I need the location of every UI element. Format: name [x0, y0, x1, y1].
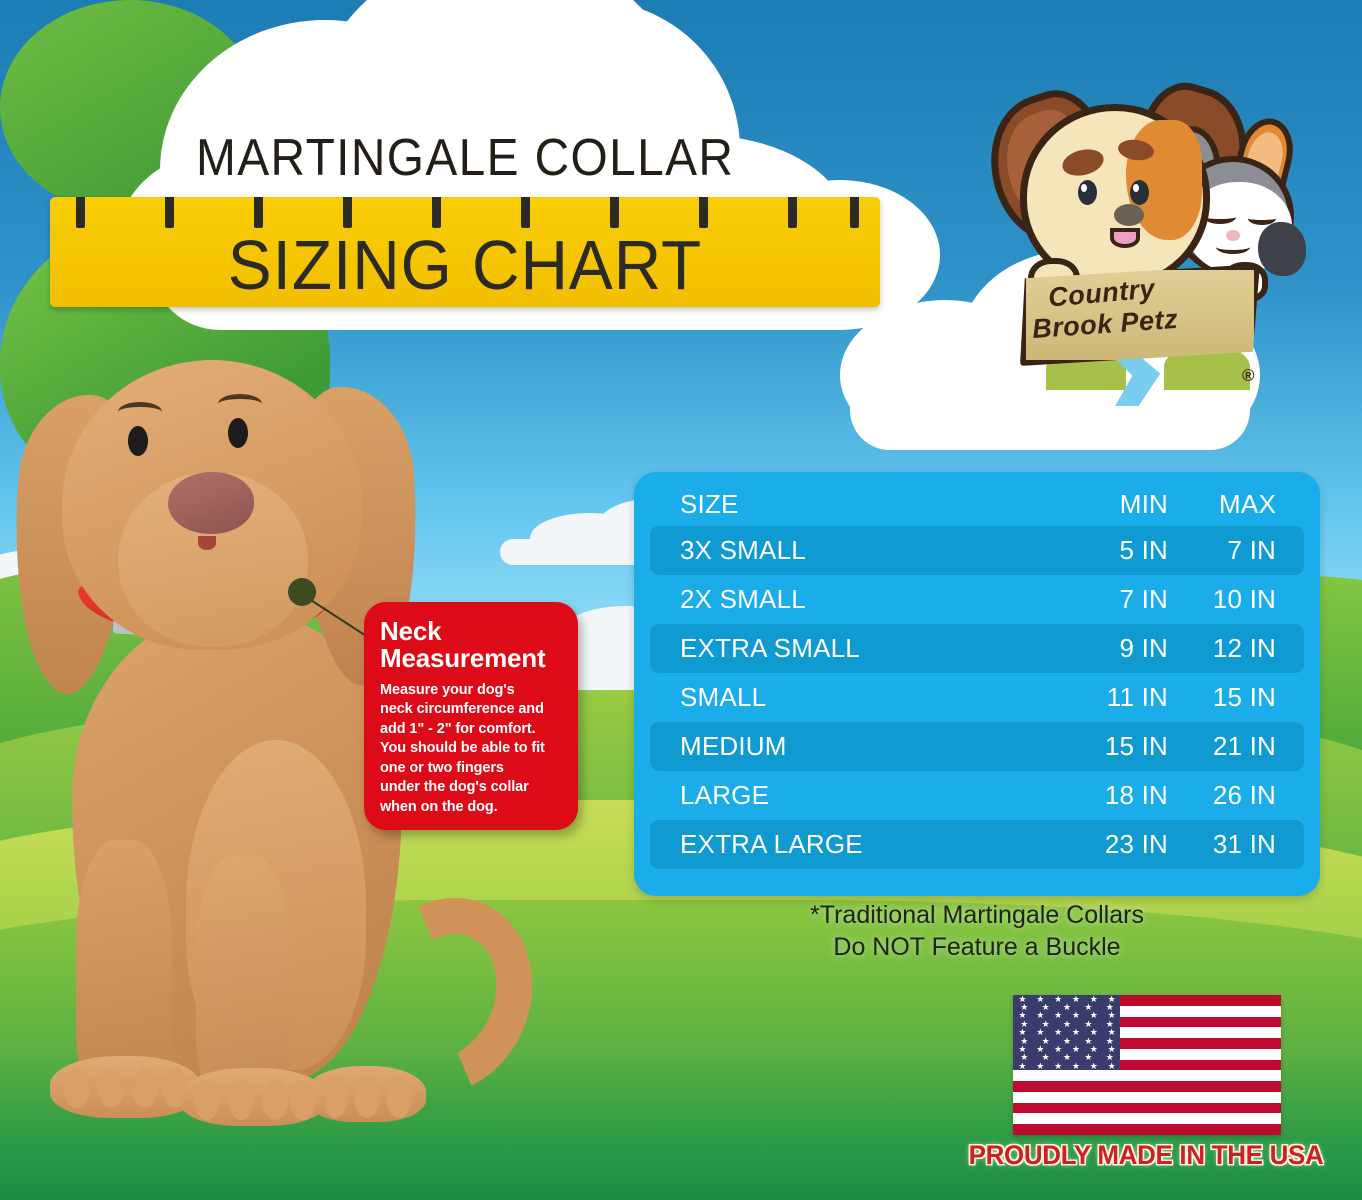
col-header-min: MIN [1044, 489, 1176, 520]
cell-max: 31 IN [1176, 829, 1304, 860]
table-row: LARGE 18 IN 26 IN [650, 771, 1304, 820]
flag-canton: ★★★★★★★★★★★★★★★★★★★★★★★★★★★★★★★★★★★★★★★★… [1013, 995, 1120, 1070]
cell-size: 3X SMALL [650, 535, 1044, 566]
flag-star: ★ [1072, 996, 1079, 1003]
flag-star: ★ [1108, 1063, 1115, 1070]
cell-size: MEDIUM [650, 731, 1044, 762]
neck-measurement-callout: Neck Measurement Measure your dog's neck… [364, 602, 578, 830]
cell-min: 9 IN [1044, 633, 1176, 664]
col-header-max: MAX [1176, 489, 1304, 520]
flag-star: ★ [1054, 1063, 1061, 1070]
table-row: MEDIUM 15 IN 21 IN [650, 722, 1304, 771]
flag-star: ★ [1072, 1046, 1079, 1053]
cell-size: EXTRA LARGE [650, 829, 1044, 860]
flag-star: ★ [1054, 1012, 1061, 1019]
flag-star: ★ [1063, 1004, 1070, 1011]
made-in-usa-label: PROUDLY MADE IN THE USA [954, 1140, 1338, 1171]
cell-size: 2X SMALL [650, 584, 1044, 615]
brand-logo: Country Brook Petz ® [986, 72, 1286, 402]
registered-mark: ® [1242, 366, 1255, 386]
cell-min: 11 IN [1044, 682, 1176, 713]
cell-max: 10 IN [1176, 584, 1304, 615]
cell-min: 5 IN [1044, 535, 1176, 566]
cell-min: 23 IN [1044, 829, 1176, 860]
ruler-banner: SIZING CHART [50, 197, 880, 307]
callout-pointer-dot [288, 578, 316, 606]
cell-size: SMALL [650, 682, 1044, 713]
flag-star: ★ [1063, 1038, 1070, 1045]
flag-star: ★ [1054, 1046, 1061, 1053]
sizing-table: SIZE MIN MAX 3X SMALL 5 IN 7 IN 2X SMALL… [634, 472, 1320, 896]
cell-max: 21 IN [1176, 731, 1304, 762]
sizing-chart-infographic: MARTINGALE COLLAR SIZING CHART [0, 0, 1362, 1200]
flag-star: ★ [1072, 1012, 1079, 1019]
cell-min: 18 IN [1044, 780, 1176, 811]
flag-star: ★ [1054, 996, 1061, 1003]
dog-eye-right [228, 418, 248, 448]
page-subtitle: MARTINGALE COLLAR [196, 128, 734, 188]
cell-min: 15 IN [1044, 731, 1176, 762]
cell-max: 26 IN [1176, 780, 1304, 811]
cell-max: 15 IN [1176, 682, 1304, 713]
table-header-row: SIZE MIN MAX [650, 482, 1304, 526]
cell-size: LARGE [650, 780, 1044, 811]
flag-star: ★ [1054, 1029, 1061, 1036]
dog-nose [168, 472, 254, 534]
callout-title: Neck Measurement [380, 618, 564, 672]
cell-min: 7 IN [1044, 584, 1176, 615]
flag-star: ★ [1072, 1029, 1079, 1036]
table-row: EXTRA SMALL 9 IN 12 IN [650, 624, 1304, 673]
flag-star: ★ [1018, 1063, 1025, 1070]
table-row: SMALL 11 IN 15 IN [650, 673, 1304, 722]
cell-size: EXTRA SMALL [650, 633, 1044, 664]
flag-star: ★ [1036, 1063, 1043, 1070]
table-row: 3X SMALL 5 IN 7 IN [650, 526, 1304, 575]
table-row: 2X SMALL 7 IN 10 IN [650, 575, 1304, 624]
cell-max: 7 IN [1176, 535, 1304, 566]
table-footnote: *Traditional Martingale Collars Do NOT F… [634, 900, 1320, 963]
flag-star: ★ [1063, 1021, 1070, 1028]
usa-flag-icon: ★★★★★★★★★★★★★★★★★★★★★★★★★★★★★★★★★★★★★★★★… [1013, 995, 1281, 1135]
callout-body: Measure your dog's neck circumference an… [380, 681, 564, 817]
flag-star: ★ [1090, 1063, 1097, 1070]
dog-eye-left [128, 426, 148, 456]
page-title: SIZING CHART [75, 225, 855, 305]
table-row: EXTRA LARGE 23 IN 31 IN [650, 820, 1304, 869]
flag-star: ★ [1072, 1063, 1079, 1070]
cell-max: 12 IN [1176, 633, 1304, 664]
flag-star: ★ [1063, 1054, 1070, 1061]
col-header-size: SIZE [650, 489, 1044, 520]
